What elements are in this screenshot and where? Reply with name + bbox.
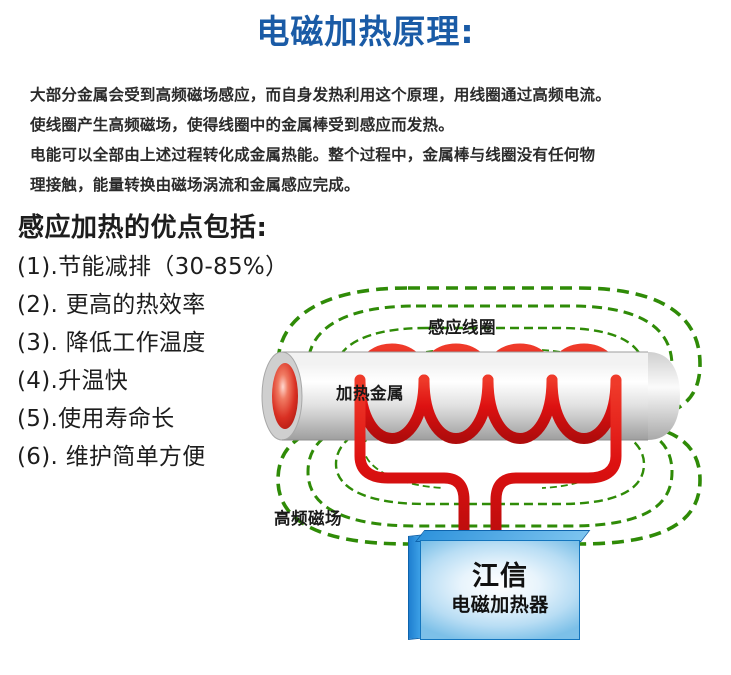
intro-line-4: 理接触，能量转换由磁场涡流和金属感应完成。 [30,170,710,200]
device-brand-label: 江信 [420,554,580,593]
intro-line-3: 电能可以全部由上述过程转化成金属热能。整个过程中，金属棒与线圈没有任何物 [30,140,710,170]
intro-paragraph: 大部分金属会受到高频磁场感应，而自身发热利用这个原理，用线圈通过高频电流。 使线… [30,80,710,200]
electromagnetic-heater-box: 江信 电磁加热器 [408,530,586,640]
intro-line-2: 使线圈产生高频磁场，使得线圈中的金属棒受到感应而发热。 [30,110,710,140]
benefits-heading: 感应加热的优点包括: [18,207,267,244]
intro-line-1: 大部分金属会受到高频磁场感应，而自身发热利用这个原理，用线圈通过高频电流。 [30,80,710,110]
device-subtitle-label: 电磁加热器 [420,590,580,617]
induction-heating-diagram: 感应线圈 加热金属 高频磁场 江信 电磁加热器 [248,272,731,672]
page-title: 电磁加热原理: [0,14,731,50]
label-heated-metal: 加热金属 [336,380,404,404]
label-induction-coil: 感应线圈 [428,314,496,338]
label-high-frequency-field: 高频磁场 [274,505,342,529]
